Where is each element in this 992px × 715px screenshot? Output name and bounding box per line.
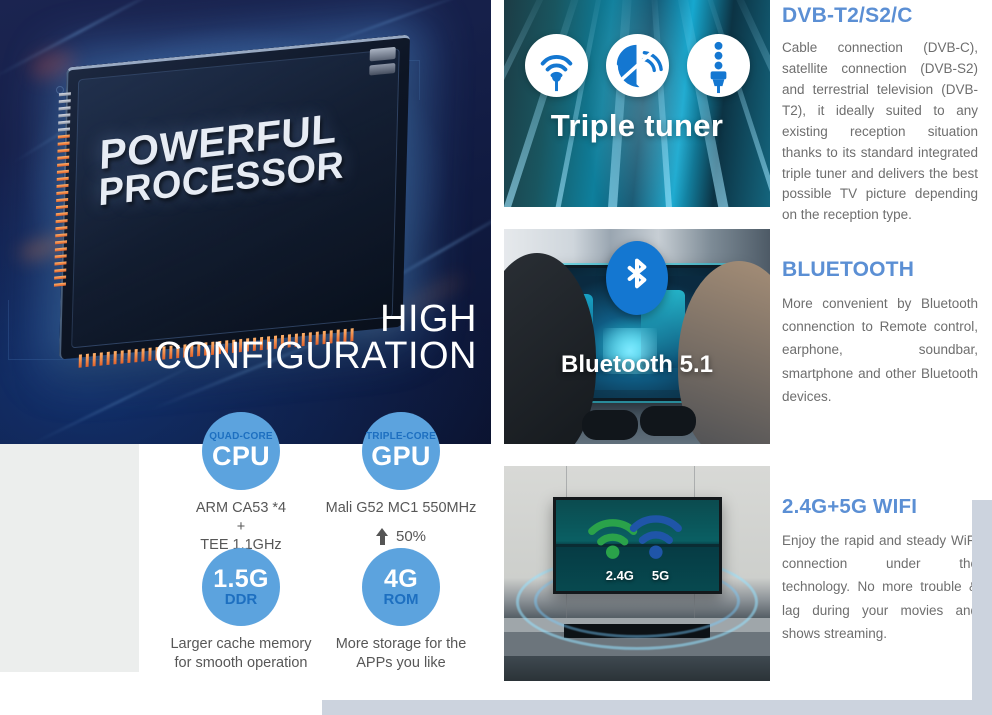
rom-badge-sub: ROM xyxy=(384,592,419,608)
processor-hero-image: POWERFUL PROCESSOR HIGH CONFIGURATION xyxy=(0,0,491,444)
spec-ddr: 1.5G DDR Larger cache memory for smooth … xyxy=(161,548,321,672)
rom-badge: 4G ROM xyxy=(362,548,440,626)
dvb-body: Cable connection (DVB-C), satellite conn… xyxy=(782,38,978,226)
coaxial-cable-plug-icon xyxy=(687,34,750,97)
gpu-badge-title: GPU xyxy=(371,442,430,470)
bluetooth-caption: Bluetooth 5.1 xyxy=(504,351,770,379)
spec-gpu: TRIPLE-CORE GPU Mali G52 MC1 550MHz 50% xyxy=(321,412,481,545)
bluetooth-heading: BLUETOOTH xyxy=(782,258,978,282)
dvb-copy-block: DVB-T2/S2/C Cable connection (DVB-C), sa… xyxy=(782,4,978,226)
wifi-band-24g: 2.4G xyxy=(606,568,634,583)
hero-headline: HIGH CONFIGURATION xyxy=(155,301,477,374)
ddr-badge-sub: DDR xyxy=(225,592,258,608)
bluetooth-body: More convenient by Bluetooth connenction… xyxy=(782,292,978,408)
spec-cpu: QUAD-CORE CPU ARM CA53 *4 + TEE 1.1GHz xyxy=(161,412,321,555)
rom-description: More storage for the APPs you like xyxy=(321,635,481,672)
dvb-heading: DVB-T2/S2/C xyxy=(782,4,978,28)
triple-tuner-image: Triple tuner xyxy=(504,0,770,207)
gpu-gain-value: 50% xyxy=(396,528,426,545)
ddr-description: Larger cache memory for smooth operation xyxy=(161,635,321,672)
infographic-page: POWERFUL PROCESSOR HIGH CONFIGURATION QU… xyxy=(0,0,992,715)
wifi-heading: 2.4G+5G WIFI xyxy=(782,495,978,519)
wifi-body: Enjoy the rapid and steady WiFi connecti… xyxy=(782,529,978,645)
ddr-badge: 1.5G DDR xyxy=(202,548,280,626)
bottom-accent-bar xyxy=(322,700,992,715)
gpu-badge: TRIPLE-CORE GPU xyxy=(362,412,440,490)
spec-rom: 4G ROM More storage for the APPs you lik… xyxy=(321,548,481,672)
gpu-gain: 50% xyxy=(321,528,481,545)
arrow-up-icon xyxy=(376,528,389,545)
wifi-copy-block: 2.4G+5G WIFI Enjoy the rapid and steady … xyxy=(782,495,978,645)
right-accent-bar xyxy=(972,500,992,700)
antenna-broadcast-icon xyxy=(525,34,588,97)
hero-headline-line2: CONFIGURATION xyxy=(155,338,477,374)
cpu-badge: QUAD-CORE CPU xyxy=(202,412,280,490)
rom-badge-title: 4G xyxy=(384,566,418,592)
wifi-tv-screen: 2.4G 5G xyxy=(553,497,722,594)
bluetooth-image: Bluetooth 5.1 xyxy=(504,229,770,444)
wifi-band-5g: 5G xyxy=(652,568,669,583)
tuner-icon-row xyxy=(504,34,770,97)
hero-headline-line1: HIGH xyxy=(155,301,477,337)
satellite-dish-icon xyxy=(606,34,669,97)
triple-tuner-caption: Triple tuner xyxy=(504,108,770,144)
specs-section: QUAD-CORE CPU ARM CA53 *4 + TEE 1.1GHz T… xyxy=(139,444,491,684)
controller-right xyxy=(640,406,696,436)
wifi-band-labels: 2.4G 5G xyxy=(556,568,719,583)
cpu-badge-title: CPU xyxy=(212,442,270,470)
bluetooth-icon xyxy=(606,241,668,315)
controller-left xyxy=(582,410,638,440)
floor xyxy=(504,656,770,681)
light-rays xyxy=(504,0,770,207)
ddr-badge-title: 1.5G xyxy=(213,566,268,592)
chip-marking-block xyxy=(370,47,396,62)
wifi-icon xyxy=(578,506,698,570)
wifi-image: 2.4G 5G xyxy=(504,466,770,681)
gpu-description: Mali G52 MC1 550MHz xyxy=(321,499,481,518)
cpu-description: ARM CA53 *4 + TEE 1.1GHz xyxy=(161,499,321,555)
bluetooth-copy-block: BLUETOOTH More convenient by Bluetooth c… xyxy=(782,258,978,408)
decorative-gray-panel xyxy=(0,444,139,672)
